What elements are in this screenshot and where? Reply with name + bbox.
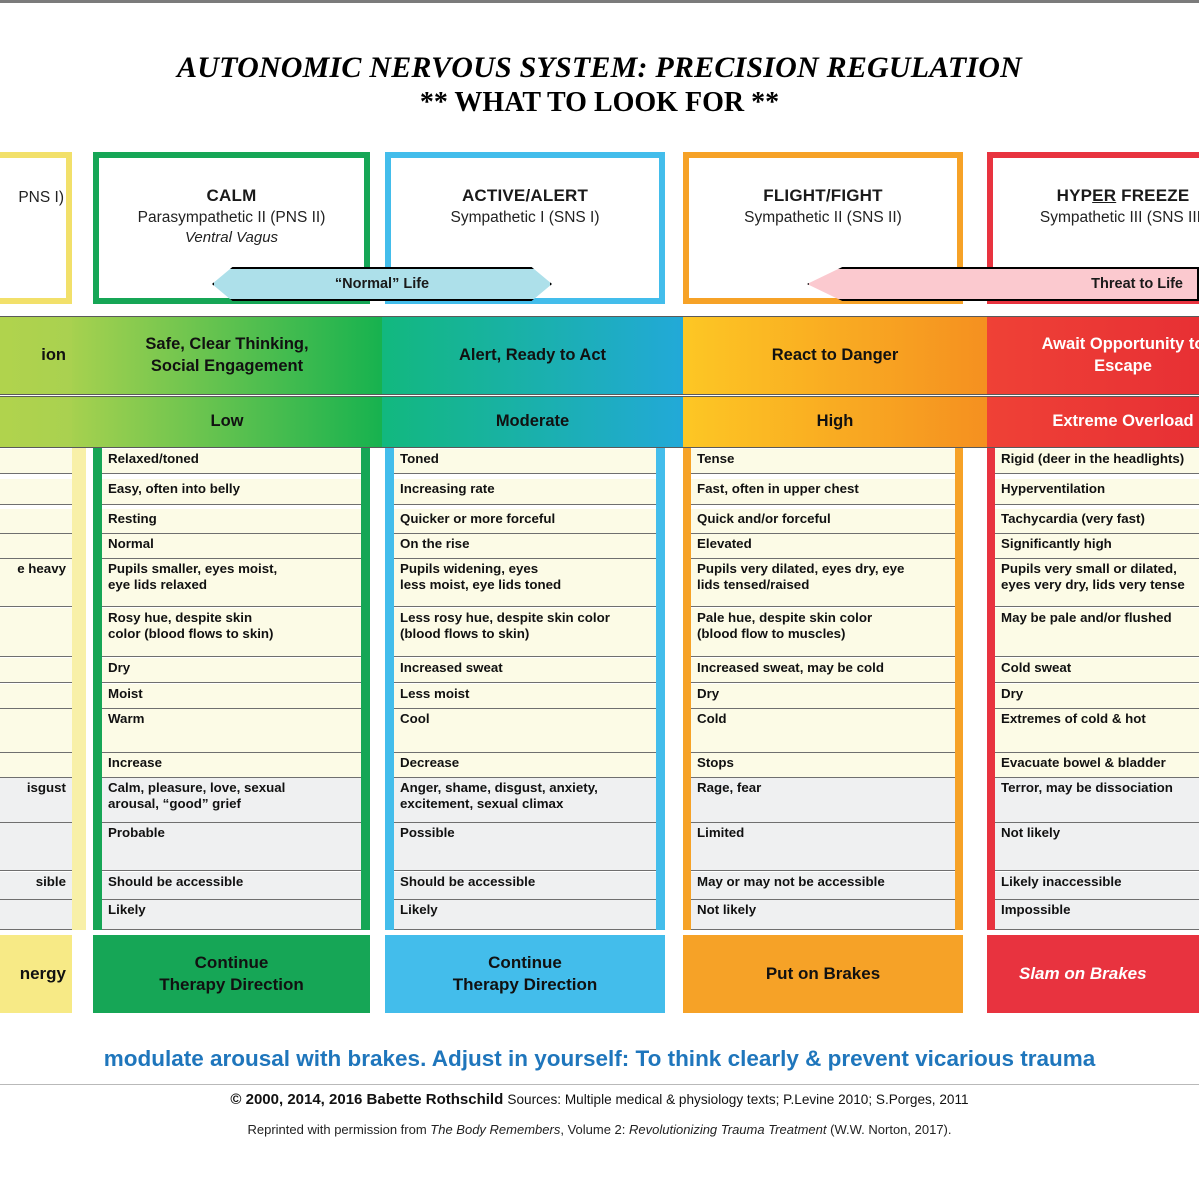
table-cell: Significantly high [995, 534, 1199, 559]
table-cell: Decrease [394, 753, 656, 778]
reprint-post: (W.W. Norton, 2017). [827, 1122, 952, 1137]
table-cell: Quick and/or forceful [691, 509, 955, 534]
tagline: modulate arousal with brakes. Adjust in … [0, 1046, 1199, 1072]
column-italic-calm: Ventral Vagus [93, 229, 370, 246]
table-cell: Warm [102, 709, 361, 753]
column-subtitle-active: Sympathetic I (SNS I) [385, 209, 665, 227]
table-cell [0, 823, 72, 871]
reprint-pre: Reprinted with permission from [247, 1122, 430, 1137]
normal-life-arrow: “Normal” Life [212, 267, 552, 301]
table-cell: Tense [691, 449, 955, 474]
table-cell: Likely [394, 900, 656, 930]
rail-flight-right [955, 448, 963, 930]
table-cell [0, 509, 72, 534]
table-cell: Fast, often in upper chest [691, 479, 955, 505]
arousal-band-active: Moderate [382, 396, 683, 448]
state-band-hyper: Await Opportunity toEscape [987, 316, 1199, 395]
arousal-band-pns1 [0, 396, 72, 448]
reprint-book-title: The Body Remembers [430, 1122, 560, 1137]
table-cell: Normal [102, 534, 361, 559]
table-cell: Cold sweat [995, 658, 1199, 683]
table-cell: Pupils very dilated, eyes dry, eyelids t… [691, 559, 955, 607]
table-cell: Hyperventilation [995, 479, 1199, 505]
table-cell: Rosy hue, despite skincolor (blood flows… [102, 608, 361, 657]
state-band-calm: Safe, Clear Thinking,Social Engagement [72, 316, 382, 395]
column-header-hyper: HYPER FREEZE Sympathetic III (SNS III) [987, 186, 1199, 227]
table-cell [0, 900, 72, 930]
table-cell: Pupils smaller, eyes moist,eye lids rela… [102, 559, 361, 607]
arousal-label-calm: Low [211, 411, 244, 432]
table-cell: On the rise [394, 534, 656, 559]
action-label-active: ContinueTherapy Direction [453, 952, 598, 996]
table-cell [0, 479, 72, 505]
column-header-pns1: PNS I) [0, 186, 72, 207]
table-cell: Impossible [995, 900, 1199, 930]
top-rule [0, 0, 1199, 3]
table-cell: Quicker or more forceful [394, 509, 656, 534]
table-cell: Increased sweat, may be cold [691, 658, 955, 683]
table-cell: Less rosy hue, despite skin color(blood … [394, 608, 656, 657]
action-bar-calm: ContinueTherapy Direction [93, 935, 370, 1013]
table-cell: Should be accessible [102, 872, 361, 900]
title-line-1: AUTONOMIC NERVOUS SYSTEM: PRECISION REGU… [0, 52, 1199, 84]
table-cell: Evacuate bowel & bladder [995, 753, 1199, 778]
column-box-pns1 [0, 152, 72, 304]
table-cell: Rigid (deer in the headlights) [995, 449, 1199, 474]
column-header-calm: CALM Parasympathetic II (PNS II) Ventral… [93, 186, 370, 246]
reprint-subtitle: Revolutionizing Trauma Treatment [629, 1122, 827, 1137]
table-cell: isgust [0, 778, 72, 823]
table-cell [0, 753, 72, 778]
table-cell: Pale hue, despite skin color(blood flow … [691, 608, 955, 657]
table-cell: Not likely [995, 823, 1199, 871]
sources-text: Sources: Multiple medical & physiology t… [507, 1092, 968, 1107]
arousal-label-active: Moderate [496, 411, 569, 432]
table-cell: May or may not be accessible [691, 872, 955, 900]
table-cell [0, 684, 72, 709]
rail-active-left [385, 448, 394, 930]
column-subtitle-flight: Sympathetic II (SNS II) [683, 209, 963, 227]
ans-precision-regulation-chart: AUTONOMIC NERVOUS SYSTEM: PRECISION REGU… [0, 0, 1199, 1200]
column-subtitle-calm: Parasympathetic II (PNS II) [93, 209, 370, 227]
table-cell: Cool [394, 709, 656, 753]
table-cell: Limited [691, 823, 955, 871]
table-cell: Less moist [394, 684, 656, 709]
table-cell: Calm, pleasure, love, sexualarousal, “go… [102, 778, 361, 823]
table-cell: Not likely [691, 900, 955, 930]
action-label-flight: Put on Brakes [766, 963, 880, 985]
table-cell [0, 658, 72, 683]
table-cell: Toned [394, 449, 656, 474]
table-cell: Pupils widening, eyesless moist, eye lid… [394, 559, 656, 607]
table-cell: Possible [394, 823, 656, 871]
table-cell: Increase [102, 753, 361, 778]
action-label-calm: ContinueTherapy Direction [159, 952, 304, 996]
table-cell: Easy, often into belly [102, 479, 361, 505]
table-cell: Moist [102, 684, 361, 709]
action-label-hyper: Slam on Brakes [1019, 963, 1147, 985]
table-cell: Increased sweat [394, 658, 656, 683]
state-band-active: Alert, Ready to Act [382, 316, 683, 395]
table-cell: Should be accessible [394, 872, 656, 900]
table-cell: Stops [691, 753, 955, 778]
table-cell: Terror, may be dissociation [995, 778, 1199, 823]
table-cell: Dry [995, 684, 1199, 709]
table-cell: Anger, shame, disgust, anxiety,excitemen… [394, 778, 656, 823]
threat-to-life-arrow: Threat to Life [807, 267, 1199, 301]
footer-divider [0, 1084, 1199, 1085]
table-cell: Pupils very small or dilated,eyes very d… [995, 559, 1199, 607]
action-bar-pns1: nergy [0, 935, 72, 1013]
table-cell: Dry [691, 684, 955, 709]
column-title-calm: CALM [93, 186, 370, 206]
table-cell: Probable [102, 823, 361, 871]
action-bar-flight: Put on Brakes [683, 935, 963, 1013]
action-bar-active: ContinueTherapy Direction [385, 935, 665, 1013]
table-cell: Increasing rate [394, 479, 656, 505]
table-cell: sible [0, 872, 72, 900]
rail-calm-left [93, 448, 102, 930]
reprint-mid: , Volume 2: [560, 1122, 629, 1137]
column-header-active: ACTIVE/ALERT Sympathetic I (SNS I) [385, 186, 665, 227]
table-cell: Rage, fear [691, 778, 955, 823]
rail-active-right [656, 448, 665, 930]
page-title: AUTONOMIC NERVOUS SYSTEM: PRECISION REGU… [0, 52, 1199, 120]
rail-hyper-left [987, 448, 995, 930]
table-cell [0, 449, 72, 474]
arousal-band-hyper: Extreme Overload [987, 396, 1199, 448]
arousal-label-flight: High [817, 411, 854, 432]
title-line-2: ** WHAT TO LOOK FOR ** [0, 86, 1199, 120]
column-title-active: ACTIVE/ALERT [385, 186, 665, 206]
arousal-label-hyper: Extreme Overload [1052, 411, 1193, 432]
threat-to-life-label: Threat to Life [1091, 276, 1183, 292]
table-cell [0, 534, 72, 559]
table-cell [0, 608, 72, 657]
table-cell: Extremes of cold & hot [995, 709, 1199, 753]
action-bar-hyper: Slam on Brakes [987, 935, 1199, 1013]
column-title-flight: FLIGHT/FIGHT [683, 186, 963, 206]
rail-flight-left [683, 448, 691, 930]
state-label-pns1: ion [41, 345, 66, 366]
arousal-band-calm: Low [72, 396, 382, 448]
table-cell: May be pale and/or flushed [995, 608, 1199, 657]
copyright-text: © 2000, 2014, 2016 Babette Rothschild [230, 1091, 503, 1108]
table-cell: Likely inaccessible [995, 872, 1199, 900]
table-cell: Likely [102, 900, 361, 930]
table-cell: Resting [102, 509, 361, 534]
table-cell: Tachycardia (very fast) [995, 509, 1199, 534]
arousal-band-flight: High [683, 396, 987, 448]
state-band-pns1: ion [0, 316, 72, 395]
normal-life-label: “Normal” Life [335, 276, 429, 292]
table-cell: Cold [691, 709, 955, 753]
column-title-hyper: HYPER FREEZE [987, 186, 1199, 206]
state-band-flight: React to Danger [683, 316, 987, 395]
column-header-flight: FLIGHT/FIGHT Sympathetic II (SNS II) [683, 186, 963, 227]
column-subtitle-pns1: PNS I) [0, 189, 72, 207]
table-cell: Elevated [691, 534, 955, 559]
table-cell: e heavy [0, 559, 72, 607]
rail-calm-right [361, 448, 370, 930]
state-label-calm: Safe, Clear Thinking,Social Engagement [145, 334, 308, 376]
rail-pns1 [72, 448, 86, 930]
state-label-flight: React to Danger [772, 345, 899, 366]
column-subtitle-hyper: Sympathetic III (SNS III) [987, 209, 1199, 227]
reprint-line: Reprinted with permission from The Body … [0, 1122, 1199, 1137]
table-cell: Dry [102, 658, 361, 683]
state-label-active: Alert, Ready to Act [459, 345, 606, 366]
table-cell [0, 709, 72, 753]
state-label-hyper: Await Opportunity toEscape [1042, 334, 1199, 376]
copyright-line: © 2000, 2014, 2016 Babette Rothschild So… [0, 1091, 1199, 1108]
action-label-pns1: nergy [20, 963, 66, 985]
table-cell: Relaxed/toned [102, 449, 361, 474]
